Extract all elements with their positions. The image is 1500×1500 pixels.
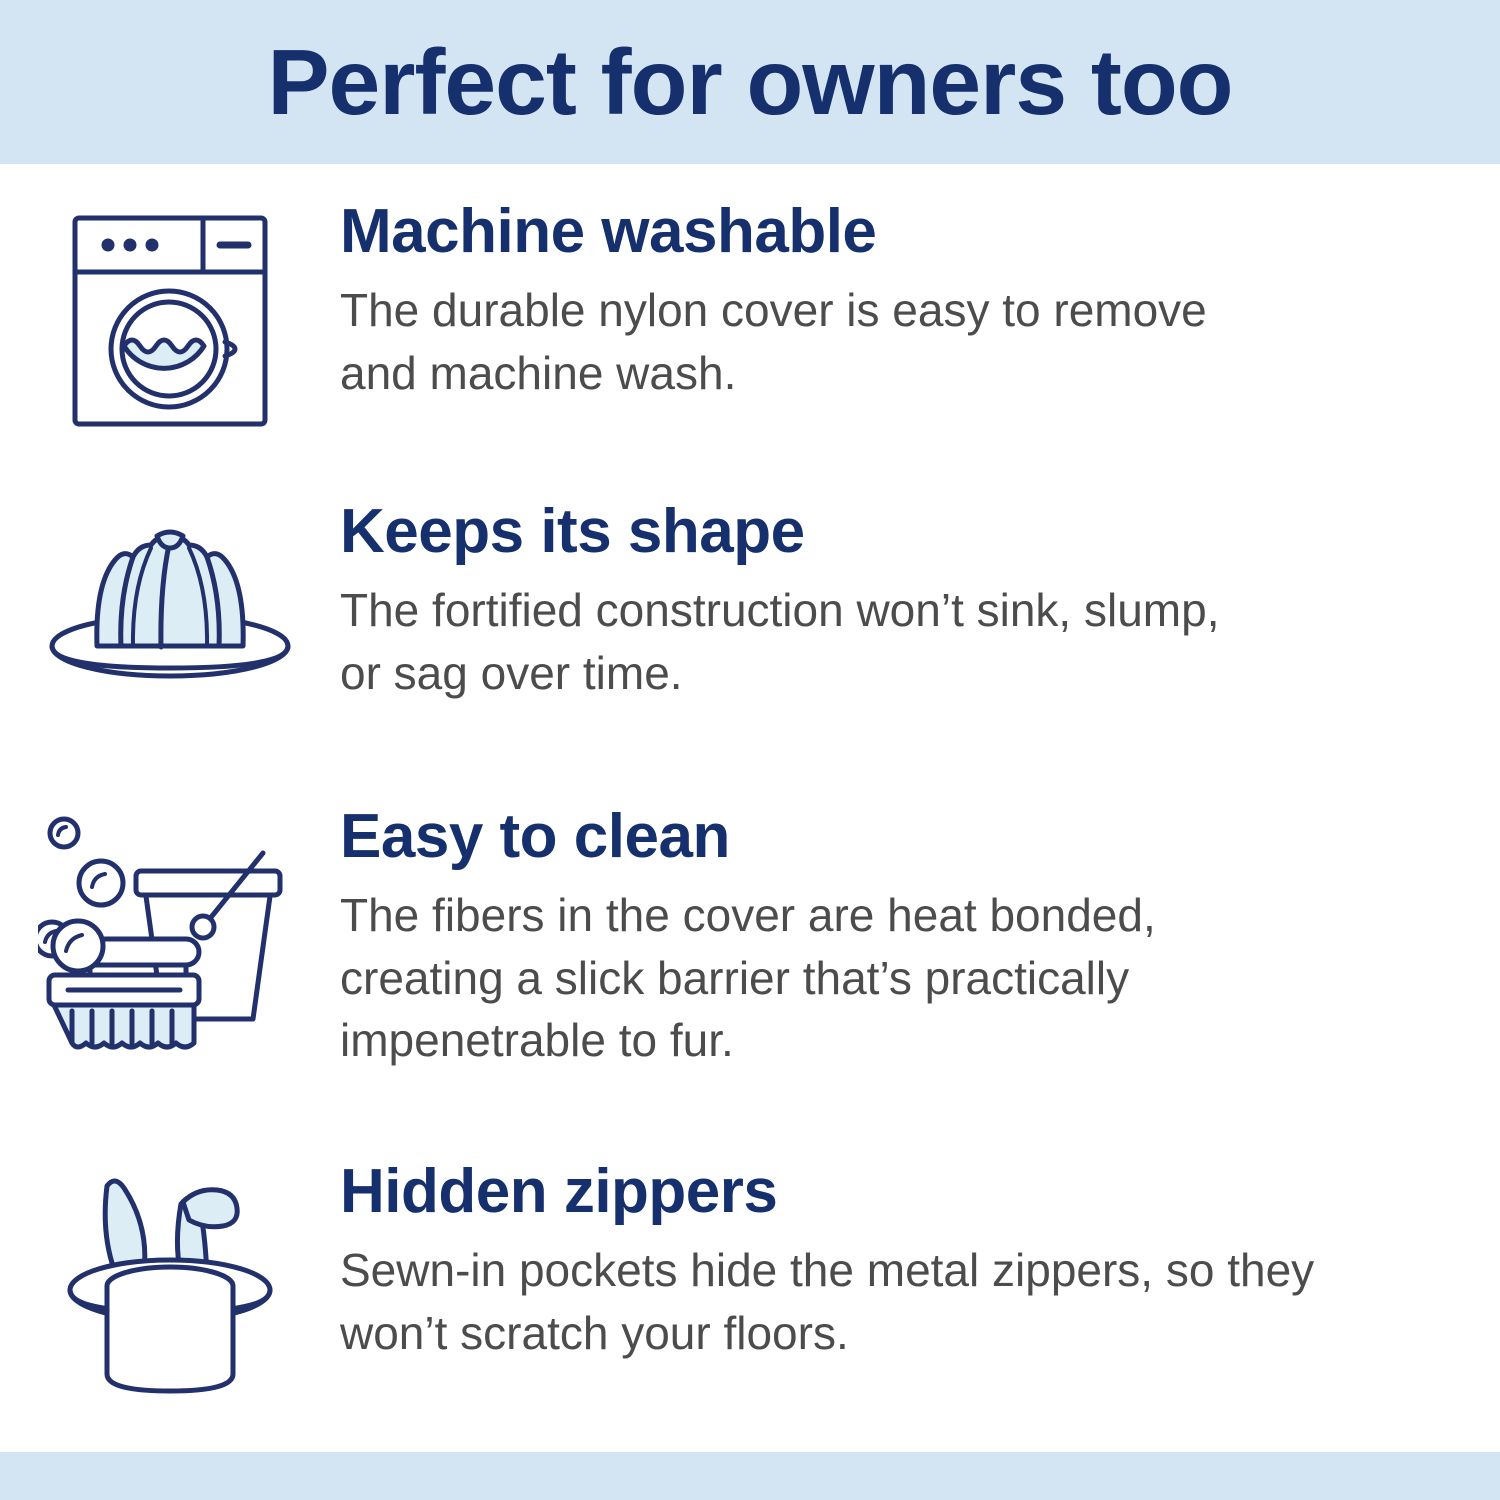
feature-icon-slot: [0, 1160, 340, 1401]
feature-heading: Easy to clean: [340, 805, 1440, 868]
feature-heading: Machine washable: [340, 200, 1440, 263]
feature-body: The fibers in the cover are heat bonded,…: [340, 884, 1300, 1072]
feature-text-slot: Keeps its shape The fortified constructi…: [340, 500, 1500, 704]
feature-item-keeps-its-shape: Keeps its shape The fortified constructi…: [0, 500, 1500, 805]
feature-text-slot: Easy to clean The fibers in the cover ar…: [340, 805, 1500, 1072]
infographic-page: Perfect for owners too: [0, 0, 1500, 1500]
page-title: Perfect for owners too: [0, 0, 1500, 164]
feature-heading: Hidden zippers: [340, 1160, 1440, 1223]
feature-item-easy-to-clean: Easy to clean The fibers in the cover ar…: [0, 805, 1500, 1160]
feature-heading: Keeps its shape: [340, 500, 1440, 563]
feature-item-machine-washable: Machine washable The durable nylon cover…: [0, 200, 1500, 500]
feature-body: The fortified construction won’t sink, s…: [340, 579, 1240, 704]
feature-item-hidden-zippers: Hidden zippers Sewn-in pockets hide the …: [0, 1160, 1500, 1452]
feature-icon-slot: [0, 805, 340, 1061]
footer-band: [0, 1452, 1500, 1500]
feature-body: The durable nylon cover is easy to remov…: [340, 279, 1240, 404]
washing-machine-icon: [65, 206, 275, 436]
jelly-mold-icon: [35, 506, 305, 696]
feature-list: Machine washable The durable nylon cover…: [0, 164, 1500, 1452]
magic-top-hat-icon: [63, 1166, 278, 1401]
feature-text-slot: Machine washable The durable nylon cover…: [340, 200, 1500, 404]
feature-icon-slot: [0, 200, 340, 436]
scrub-brush-bucket-icon: [38, 811, 303, 1061]
feature-body: Sewn-in pockets hide the metal zippers, …: [340, 1239, 1350, 1364]
feature-icon-slot: [0, 500, 340, 696]
feature-text-slot: Hidden zippers Sewn-in pockets hide the …: [340, 1160, 1500, 1364]
